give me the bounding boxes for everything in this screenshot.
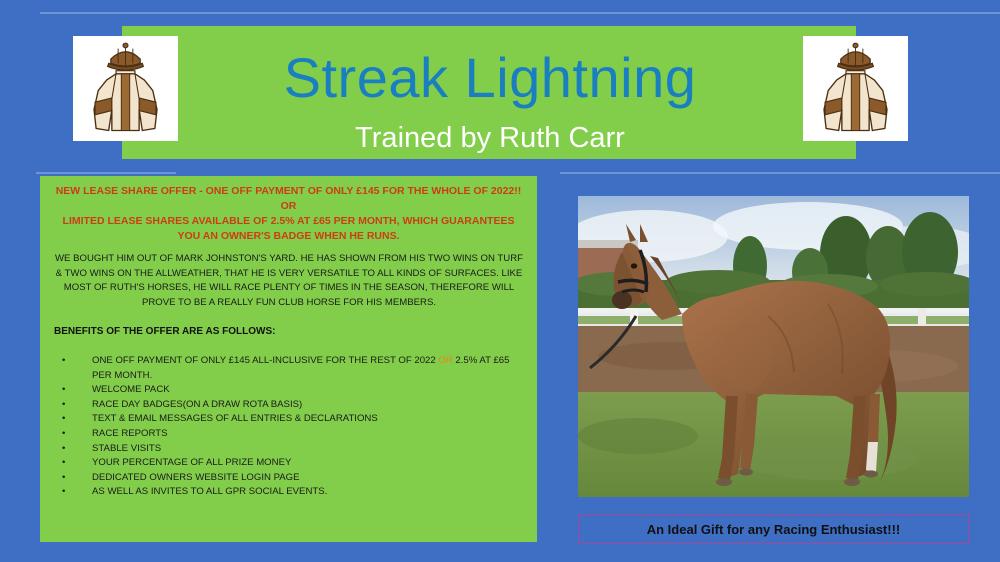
list-item: •RACE REPORTS <box>54 427 524 442</box>
list-item: •YOUR PERCENTAGE OF ALL PRIZE MONEY <box>54 456 524 471</box>
bullet-glyph: • <box>62 471 65 486</box>
jockey-silks-icon-right <box>803 36 908 141</box>
offer-panel: NEW LEASE SHARE OFFER - ONE OFF PAYMENT … <box>40 176 537 542</box>
list-item-text: RACE DAY BADGES(ON A DRAW ROTA BASIS) <box>92 399 302 410</box>
horse-photo <box>578 196 969 497</box>
list-item: •DEDICATED OWNERS WEBSITE LOGIN PAGE <box>54 471 524 486</box>
slide-canvas: Streak Lightning Trained by Ruth Carr <box>0 0 1000 562</box>
list-item: •ONE OFF PAYMENT OF ONLY £145 ALL-INCLUS… <box>54 354 524 383</box>
bullet-glyph: • <box>62 354 65 369</box>
bullet-glyph: • <box>62 383 65 398</box>
top-divider-line <box>40 12 1000 14</box>
bullet-glyph: • <box>62 442 65 457</box>
benefits-list: •ONE OFF PAYMENT OF ONLY £145 ALL-INCLUS… <box>54 354 524 500</box>
list-item-text: RACE REPORTS <box>92 428 168 439</box>
bullet-glyph: • <box>62 412 65 427</box>
list-item-text: DEDICATED OWNERS WEBSITE LOGIN PAGE <box>92 472 300 483</box>
bullet-glyph: • <box>62 427 65 442</box>
list-item-text: TEXT & EMAIL MESSAGES OF ALL ENTRIES & D… <box>92 413 378 424</box>
list-item-text: STABLE VISITS <box>92 443 161 454</box>
jockey-silks-icon-left <box>73 36 178 141</box>
list-item-text: AS WELL AS INVITES TO ALL GPR SOCIAL EVE… <box>92 486 327 497</box>
mid-left-divider-line <box>36 172 176 174</box>
list-item: •WELCOME PACK <box>54 383 524 398</box>
offer-headline-line2: OR <box>50 199 527 214</box>
page-title: Streak Lightning <box>180 50 800 106</box>
list-item-text: YOUR PERCENTAGE OF ALL PRIZE MONEY <box>92 457 291 468</box>
benefits-heading: BENEFITS OF THE OFFER ARE AS FOLLOWS: <box>54 326 275 337</box>
offer-headline-line1: NEW LEASE SHARE OFFER - ONE OFF PAYMENT … <box>50 184 527 199</box>
list-item-text: ONE OFF PAYMENT OF ONLY £145 ALL-INCLUSI… <box>92 355 438 366</box>
offer-headline-line3: LIMITED LEASE SHARES AVAILABLE OF 2.5% A… <box>50 214 527 244</box>
offer-headline: NEW LEASE SHARE OFFER - ONE OFF PAYMENT … <box>50 184 527 244</box>
bullet-glyph: • <box>62 456 65 471</box>
caption-box: An Ideal Gift for any Racing Enthusiast!… <box>578 514 969 544</box>
intro-paragraph: WE BOUGHT HIM OUT OF MARK JOHNSTON'S YAR… <box>54 252 524 310</box>
mid-right-divider-line <box>560 172 1000 174</box>
bullet-glyph: • <box>62 485 65 500</box>
list-item: •RACE DAY BADGES(ON A DRAW ROTA BASIS) <box>54 398 524 413</box>
caption-text: An Ideal Gift for any Racing Enthusiast!… <box>647 522 901 537</box>
list-item: •STABLE VISITS <box>54 442 524 457</box>
list-item-highlight: OR <box>438 355 452 366</box>
page-subtitle: Trained by Ruth Carr <box>180 124 800 153</box>
list-item: •AS WELL AS INVITES TO ALL GPR SOCIAL EV… <box>54 485 524 500</box>
list-item-text: WELCOME PACK <box>92 384 170 395</box>
list-item: •TEXT & EMAIL MESSAGES OF ALL ENTRIES & … <box>54 412 524 427</box>
bullet-glyph: • <box>62 398 65 413</box>
